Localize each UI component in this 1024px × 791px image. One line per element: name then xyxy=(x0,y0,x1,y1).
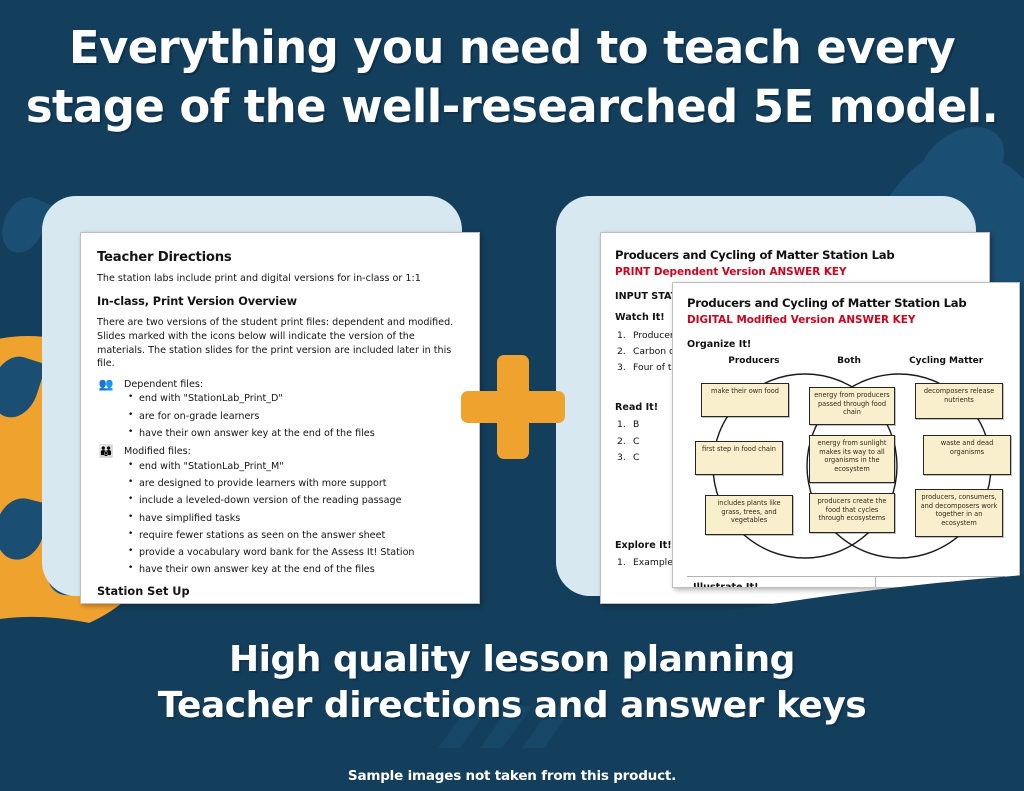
dependent-files-list: end with "StationLab_Print_D" are for on… xyxy=(127,392,463,440)
back-doc-subtitle: PRINT Dependent Version ANSWER KEY xyxy=(615,265,975,280)
back-doc-title: Producers and Cycling of Matter Station … xyxy=(615,247,975,263)
footnote: Sample images not taken from this produc… xyxy=(0,768,1024,784)
list-item: are designed to provide learners with mo… xyxy=(127,477,463,491)
venn-label-producers: Producers xyxy=(697,355,811,368)
venn-box-cycling-3: producers, consumers, and decomposers wo… xyxy=(915,489,1003,537)
subheadline: High quality lesson planning Teacher dir… xyxy=(0,637,1024,728)
modified-files-label: Modified files: xyxy=(124,445,191,459)
venn-label-cycling-matter: Cycling Matter xyxy=(887,355,1005,368)
modified-files-group: 👪 Modified files: xyxy=(97,445,463,459)
headline-line-1: Everything you need to teach every xyxy=(0,18,1024,77)
plus-horizontal-bar xyxy=(461,391,565,423)
doc-title: Teacher Directions xyxy=(97,249,463,268)
subheadline-line-1: High quality lesson planning xyxy=(0,637,1024,683)
dependent-files-label: Dependent files: xyxy=(124,378,203,392)
venn-labels: Producers Both Cycling Matter xyxy=(697,355,1005,368)
venn-label-both: Both xyxy=(811,355,888,368)
subheadline-line-2: Teacher directions and answer keys xyxy=(0,683,1024,729)
headline-line-2: stage of the well-researched 5E model. xyxy=(0,77,1024,136)
dependent-files-group: 👥 Dependent files: xyxy=(97,378,463,392)
venn-diagram: Producers Both Cycling Matter make their… xyxy=(687,355,1005,570)
venn-box-both-2: energy from sunlight makes its way to al… xyxy=(809,435,895,483)
headline: Everything you need to teach every stage… xyxy=(0,18,1024,137)
venn-box-cycling-2: waste and dead organisms xyxy=(923,435,1011,475)
list-item: include a leveled-down version of the re… xyxy=(127,494,463,508)
doc-section-body: There are two versions of the student pr… xyxy=(97,316,463,370)
plus-sign-icon xyxy=(461,355,565,459)
doc-section-title: In-class, Print Version Overview xyxy=(97,294,463,310)
venn-box-producers-3: includes plants like grass, trees, and v… xyxy=(705,495,793,535)
teacher-and-student-icon: 👪 xyxy=(97,445,115,458)
front-doc-title: Producers and Cycling of Matter Station … xyxy=(687,295,1005,311)
venn-box-cycling-1: decomposers release nutrients xyxy=(915,383,1003,419)
list-item: end with "StationLab_Print_D" xyxy=(127,392,463,406)
two-students-icon: 👥 xyxy=(97,378,115,391)
venn-box-producers-1: make their own food xyxy=(701,383,789,417)
list-item: end with "StationLab_Print_M" xyxy=(127,460,463,474)
venn-box-both-1: energy from producers passed through foo… xyxy=(809,387,895,425)
front-doc-subtitle: DIGITAL Modified Version ANSWER KEY xyxy=(687,313,1005,328)
venn-box-both-3: producers create the food that cycles th… xyxy=(809,493,895,533)
list-item: are for on-grade learners xyxy=(127,410,463,424)
list-item: have their own answer key at the end of … xyxy=(127,427,463,441)
organize-it-heading: Organize It! xyxy=(687,338,1005,351)
venn-box-producers-2: first step in food chain xyxy=(695,441,783,475)
doc-intro: The station labs include print and digit… xyxy=(97,272,463,286)
list-item: have simplified tasks xyxy=(127,512,463,526)
